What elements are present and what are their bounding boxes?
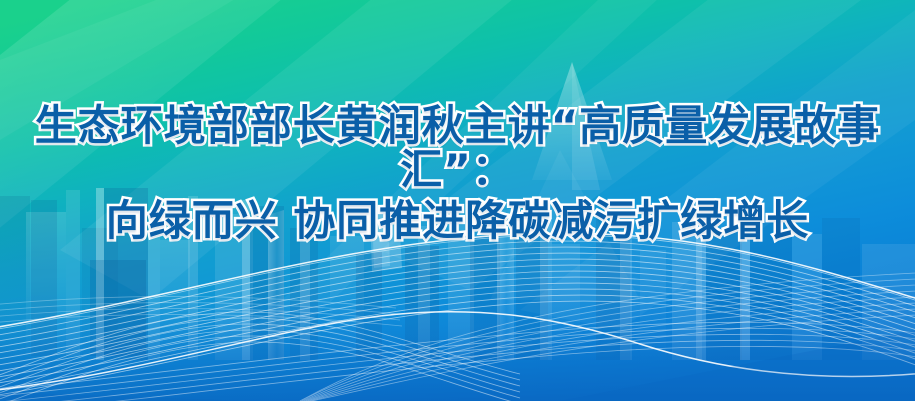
banner-graphic: 生态环境部部长黄润秋主讲“高质量发展故事汇”： 向绿而兴 协同推进降碳减污扩绿增… bbox=[0, 0, 915, 401]
banner-background-art bbox=[0, 0, 915, 401]
